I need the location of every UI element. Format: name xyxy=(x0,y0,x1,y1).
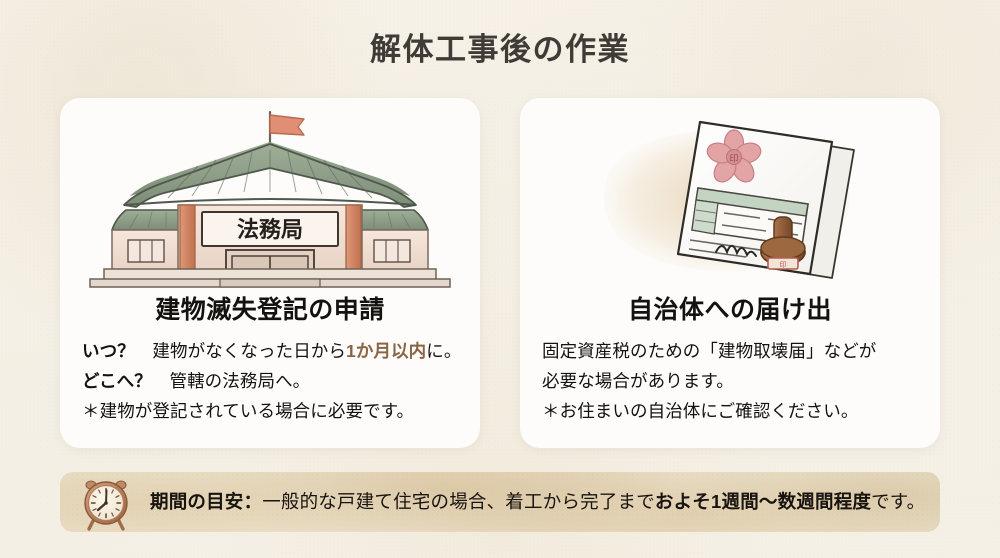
body-line-2-text: 必要な場合があります。 xyxy=(542,371,734,391)
card-body-building-registration: いつ？ 建物がなくなった日から1か月以内に。 どこへ？ 管轄の法務局へ。 ＊建物… xyxy=(82,336,466,426)
body-line-1-after: に。 xyxy=(426,341,461,361)
body-line-2: 必要な場合があります。 xyxy=(542,366,926,396)
card-body-municipality-notification: 固定資産税のための「建物取壊届」などが 必要な場合があります。 ＊お住まいの自治… xyxy=(542,336,926,426)
card-building-registration: 法務局 建物滅失登記の申請 いつ？ 建物がなくなった日から1か月以内に。 どこへ… xyxy=(60,98,480,448)
body-line-2-label: どこへ？ xyxy=(82,371,152,391)
duration-banner-text: 期間の目安：一般的な戸建て住宅の場合、着工から完了までおよそ1週間〜数週間程度で… xyxy=(150,472,925,532)
body-line-3-before: ＊建物が登記されている場合に必要です。 xyxy=(82,401,414,421)
body-line-3: ＊お住まいの自治体にご確認ください。 xyxy=(542,396,926,426)
duration-banner-label: 期間の目安： xyxy=(150,491,262,512)
body-line-2-before: 管轄の法務局へ。 xyxy=(152,371,310,391)
svg-text:印: 印 xyxy=(729,153,738,165)
duration-banner-before: 一般的な戸建て住宅の場合、着工から完了まで xyxy=(262,491,655,512)
page-title: 解体工事後の作業 xyxy=(0,24,1000,69)
body-line-1: 固定資産税のための「建物取壊届」などが xyxy=(542,336,926,366)
duration-banner-after: です。 xyxy=(871,491,925,512)
body-line-1-label: いつ？ xyxy=(82,341,135,361)
card-heading-municipality-notification: 自治体への届け出 xyxy=(520,290,940,326)
card-heading-building-registration: 建物滅失登記の申請 xyxy=(60,290,480,326)
body-line-3: ＊建物が登記されている場合に必要です。 xyxy=(82,396,466,426)
body-line-2: どこへ？ 管轄の法務局へ。 xyxy=(82,366,466,396)
alarm-clock-icon xyxy=(78,475,134,531)
building-sign-text: 法務局 xyxy=(237,217,303,243)
legal-affairs-bureau-building-illustration: 法務局 xyxy=(60,106,480,288)
duration-banner: 期間の目安：一般的な戸建て住宅の場合、着工から完了までおよそ1週間〜数週間程度で… xyxy=(60,472,940,532)
body-line-3-text: ＊お住まいの自治体にご確認ください。 xyxy=(542,401,858,421)
body-line-1-before: 建物がなくなった日から xyxy=(135,341,346,361)
duration-banner-highlight: およそ1週間〜数週間程度 xyxy=(655,491,871,512)
body-line-1-highlight: 1か月以内 xyxy=(346,341,426,361)
card-municipality-notification: 印 xyxy=(520,98,940,448)
official-document-illustration: 印 xyxy=(520,106,940,288)
body-line-1: いつ？ 建物がなくなった日から1か月以内に。 xyxy=(82,336,466,366)
svg-text:印: 印 xyxy=(780,261,787,269)
body-line-1-text: 固定資産税のための「建物取壊届」などが xyxy=(542,341,876,361)
